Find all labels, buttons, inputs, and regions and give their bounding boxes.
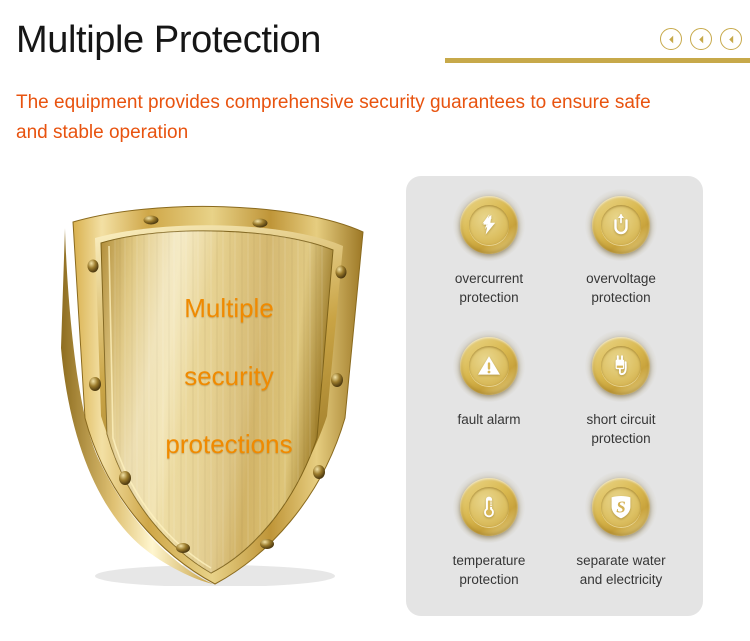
thermometer-icon [474, 492, 504, 522]
feature-label-line-2: protection [591, 431, 650, 446]
feature-label: overvoltage protection [586, 269, 656, 307]
prev-arrow-2[interactable] [690, 28, 712, 50]
feature-label: temperature protection [453, 551, 526, 589]
title-divider-rule [445, 58, 750, 63]
prev-arrow-1[interactable] [660, 28, 682, 50]
feature-label: fault alarm [457, 410, 520, 429]
feature-label-line-2: protection [459, 290, 518, 305]
chevron-left-circle-icon [696, 34, 707, 45]
page-subtitle: The equipment provides comprehensive sec… [16, 88, 656, 148]
feature-label-line-1: overcurrent [455, 271, 523, 286]
page-title: Multiple Protection [16, 18, 321, 62]
feature-label-line-2: and electricity [580, 572, 663, 587]
feature-separate-water-and-electricity[interactable]: S separate water and electricity [558, 471, 684, 612]
power-plug-icon [606, 351, 636, 381]
feature-temperature-protection[interactable]: temperature protection [426, 471, 552, 612]
feature-badge: S [585, 471, 657, 543]
shield-s-icon: S [606, 492, 636, 522]
feature-badge [453, 330, 525, 402]
feature-label-line-1: short circuit [586, 412, 655, 427]
shield-illustration [45, 188, 385, 586]
prev-arrow-3[interactable] [720, 28, 742, 50]
chevron-left-circle-icon [726, 34, 737, 45]
feature-label-line-1: separate water [576, 553, 665, 568]
feature-fault-alarm[interactable]: fault alarm [426, 330, 552, 471]
feature-short-circuit-protection[interactable]: short circuit protection [558, 330, 684, 471]
feature-badge [453, 471, 525, 543]
feature-badge [585, 330, 657, 402]
feature-label-line-1: temperature [453, 553, 526, 568]
features-grid: overcurrent protection [426, 189, 684, 612]
feature-label: overcurrent protection [455, 269, 523, 307]
feature-label-line-1: fault alarm [457, 412, 520, 427]
voltage-up-u-icon [606, 210, 636, 240]
feature-label: separate water and electricity [576, 551, 665, 589]
feature-overcurrent-protection[interactable]: overcurrent protection [426, 189, 552, 330]
feature-badge [585, 189, 657, 261]
chevron-left-circle-icon [666, 34, 677, 45]
features-panel: overcurrent protection [406, 176, 703, 616]
feature-label: short circuit protection [586, 410, 655, 448]
lightning-bolt-icon [474, 210, 504, 240]
feature-label-line-1: overvoltage [586, 271, 656, 286]
nav-arrows [660, 28, 742, 50]
feature-overvoltage-protection[interactable]: overvoltage protection [558, 189, 684, 330]
feature-label-line-2: protection [591, 290, 650, 305]
slide-root: Multiple Protection The equipment provid… [0, 0, 750, 641]
warning-triangle-icon [474, 351, 504, 381]
svg-text:S: S [616, 497, 625, 516]
gold-shield-graphic: Multiple security protections [45, 188, 385, 586]
feature-badge [453, 189, 525, 261]
feature-label-line-2: protection [459, 572, 518, 587]
